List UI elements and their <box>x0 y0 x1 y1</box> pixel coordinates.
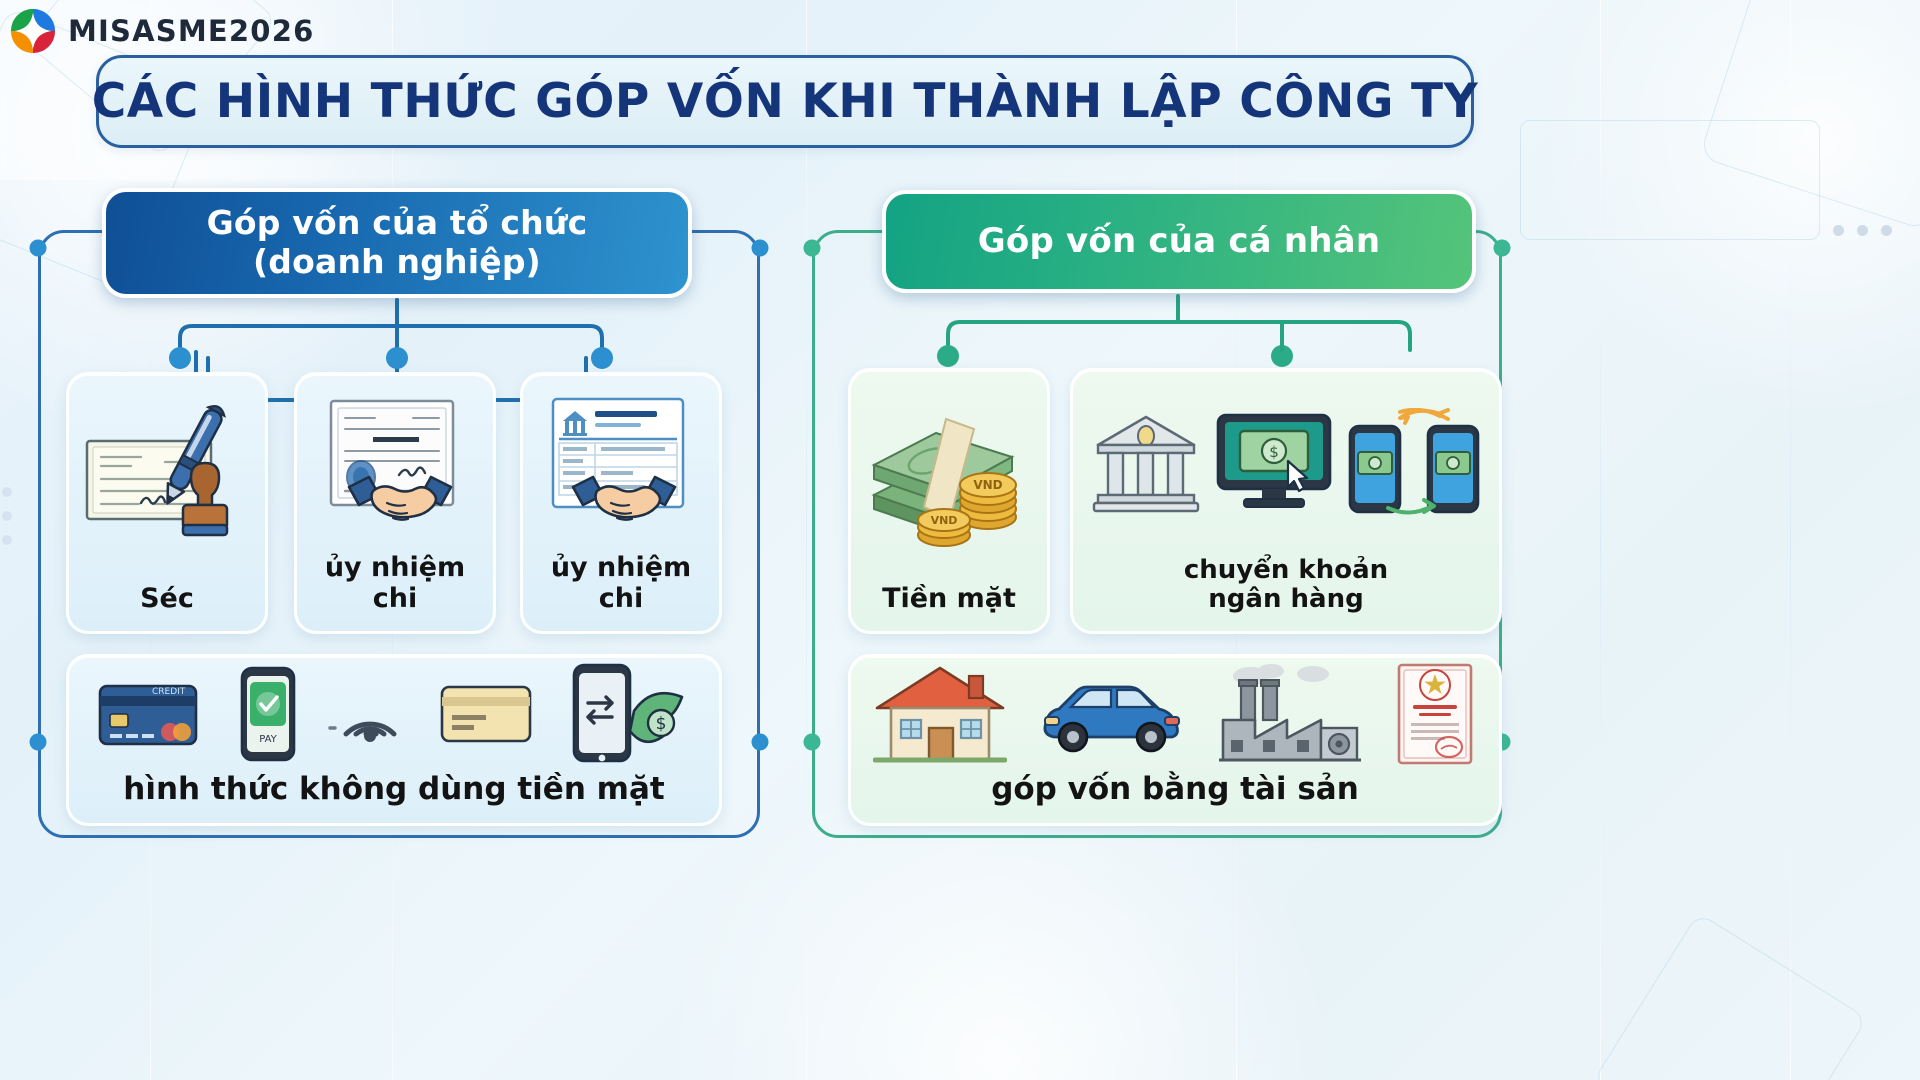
card-label: ủy nhiệm chi <box>297 553 493 631</box>
card-label: Tiền mặt <box>876 584 1022 631</box>
card-label: góp vốn bằng tài sản <box>985 772 1365 823</box>
credit-card-icon: CREDIT <box>96 672 208 756</box>
brand-name: MISASME2026 <box>68 14 314 48</box>
coin-denomination: VND <box>931 514 958 527</box>
header-organization-label: Góp vốn của tổ chức (doanh nghiệp) <box>207 204 588 281</box>
coin-denomination: VND <box>973 478 1002 492</box>
house-icon <box>873 662 1007 766</box>
decor-dot <box>2 535 12 545</box>
svg-text:PAY: PAY <box>259 734 277 745</box>
cashless-payment-icon: CREDIT PAY <box>69 657 719 772</box>
misa-logo-icon <box>10 8 56 54</box>
decor-dot <box>1833 225 1844 236</box>
card-label: Séc <box>134 584 200 631</box>
branch-node-left-top <box>30 240 47 257</box>
header-individual[interactable]: Góp vốn của cá nhân <box>882 190 1476 293</box>
header-line2: (doanh nghiệp) <box>253 242 541 281</box>
decor-dot <box>2 487 12 497</box>
cash-stack-coins-icon: VND VND <box>851 371 1047 584</box>
property-certificate-icon <box>1393 661 1477 767</box>
assets-house-car-factory-certificate-icon <box>851 657 1499 772</box>
card-sec[interactable]: Séc <box>66 372 268 634</box>
svg-text:$: $ <box>656 714 667 734</box>
decor-dot <box>1857 225 1868 236</box>
document-handshake-icon <box>297 375 493 553</box>
card-label: hình thức không dùng tiền mặt <box>117 772 670 823</box>
factory-icon <box>1217 662 1363 766</box>
svg-text:$: $ <box>1269 443 1279 461</box>
card-uy-nhiem-chi-2[interactable]: ủy nhiệm chi <box>520 372 722 634</box>
header-line1: Góp vốn của tổ chức <box>207 203 588 242</box>
bank-building-icon <box>1092 411 1200 515</box>
card-tai-san[interactable]: góp vốn bằng tài sản <box>848 654 1502 826</box>
svg-text:CREDIT: CREDIT <box>152 687 186 697</box>
decor-dot <box>1881 225 1892 236</box>
card-label: ủy nhiệm chi <box>523 553 719 631</box>
branch-node-left-top <box>804 240 821 257</box>
decorative-dots-left <box>2 487 12 545</box>
car-icon <box>1037 671 1187 757</box>
card-label: chuyển khoản ngân hàng <box>1178 556 1394 631</box>
branch-node-right-top <box>1494 240 1511 257</box>
card-chuyen-khoan[interactable]: $ <box>1070 368 1502 634</box>
brand: MISASME2026 <box>10 8 314 54</box>
bank-transfer-icon: $ <box>1073 371 1499 556</box>
card-label-line2: ngân hàng <box>1208 584 1363 614</box>
branch-node-right-top <box>752 240 769 257</box>
page-title: CÁC HÌNH THỨC GÓP VỐN KHI THÀNH LẬP CÔNG… <box>92 74 1479 129</box>
card-tien-mat[interactable]: VND VND Tiền mặt <box>848 368 1050 634</box>
payment-card-icon <box>438 675 542 753</box>
cheque-pen-stamp-icon <box>69 375 265 584</box>
card-cashless[interactable]: CREDIT PAY <box>66 654 722 826</box>
branch-node-left-bottom <box>804 734 821 751</box>
online-transfer-monitor-icon: $ <box>1214 409 1334 517</box>
header-individual-label: Góp vốn của cá nhân <box>978 222 1380 262</box>
mobile-transfer-icon: $ <box>568 659 692 769</box>
title-banner: CÁC HÌNH THỨC GÓP VỐN KHI THÀNH LẬP CÔNG… <box>96 55 1474 148</box>
card-label-line1: chuyển khoản <box>1184 555 1388 585</box>
bank-form-handshake-icon <box>523 375 719 553</box>
phone-to-phone-transfer-icon <box>1348 408 1480 518</box>
decor-dot <box>2 511 12 521</box>
header-organization[interactable]: Góp vốn của tổ chức (doanh nghiệp) <box>102 188 692 298</box>
branch-node-left-bottom <box>30 734 47 751</box>
mobile-pay-icon: PAY <box>234 664 302 764</box>
decorative-dots-top-right <box>1833 225 1892 236</box>
nfc-wave-icon <box>328 672 412 756</box>
card-uy-nhiem-chi-1[interactable]: ủy nhiệm chi <box>294 372 496 634</box>
branch-node-right-bottom <box>752 734 769 751</box>
